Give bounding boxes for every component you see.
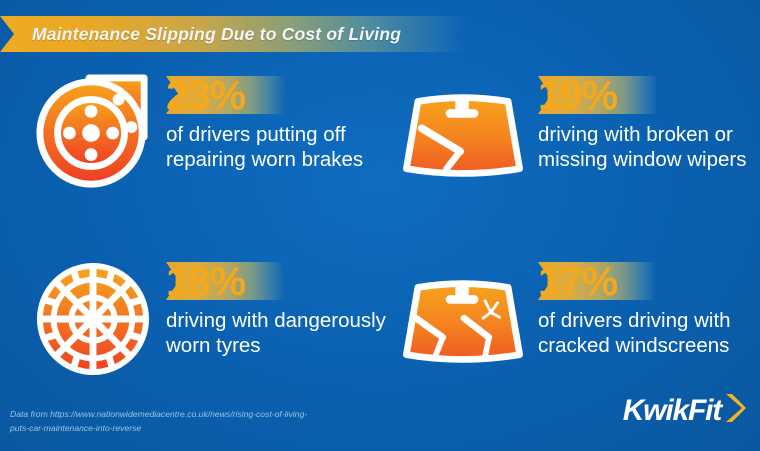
- stat-card-tyres: 18% driving with dangerously worn tyres: [34, 258, 396, 383]
- stat-card-wipers: 19% driving with broken or missing windo…: [400, 72, 754, 189]
- stat-body-tyres: 18% driving with dangerously worn tyres: [166, 258, 396, 358]
- logo-wordmark: KwikFit: [623, 396, 721, 426]
- percent-value: 23%: [166, 75, 245, 116]
- stat-card-windscreens: 17% of drivers driving with cracked wind…: [400, 258, 754, 375]
- percent-value: 17%: [538, 261, 617, 302]
- chevron-right-icon: [724, 392, 746, 429]
- stat-description: of drivers putting off repairing worn br…: [166, 122, 396, 172]
- tyre-icon: [34, 258, 152, 383]
- stat-description: driving with broken or missing window wi…: [538, 122, 754, 172]
- cracked-windscreen-icon: [400, 258, 526, 375]
- infographic-canvas: Maintenance Slipping Due to Cost of Livi…: [0, 0, 760, 451]
- stat-description: driving with dangerously worn tyres: [166, 308, 396, 358]
- title-banner: Maintenance Slipping Due to Cost of Livi…: [0, 16, 470, 52]
- stat-body-windscreens: 17% of drivers driving with cracked wind…: [538, 258, 754, 358]
- page-title: Maintenance Slipping Due to Cost of Livi…: [32, 24, 401, 45]
- stat-description: of drivers driving with cracked windscre…: [538, 308, 754, 358]
- brake-disc-icon: [34, 72, 152, 197]
- percent-ribbon-brakes: 23%: [166, 72, 396, 118]
- kwik-fit-logo[interactable]: KwikFit: [623, 392, 746, 429]
- percent-ribbon-wipers: 19%: [538, 72, 754, 118]
- stat-card-brakes: 23% of drivers putting off repairing wor…: [34, 72, 396, 197]
- stat-body-wipers: 19% driving with broken or missing windo…: [538, 72, 754, 172]
- source-attribution: Data from https://www.nationwidemediacen…: [10, 408, 310, 435]
- percent-value: 18%: [166, 261, 245, 302]
- percent-ribbon-tyres: 18%: [166, 258, 396, 304]
- percent-ribbon-windscreens: 17%: [538, 258, 754, 304]
- stat-body-brakes: 23% of drivers putting off repairing wor…: [166, 72, 396, 172]
- percent-value: 19%: [538, 75, 617, 116]
- windscreen-wiper-icon: [400, 72, 526, 189]
